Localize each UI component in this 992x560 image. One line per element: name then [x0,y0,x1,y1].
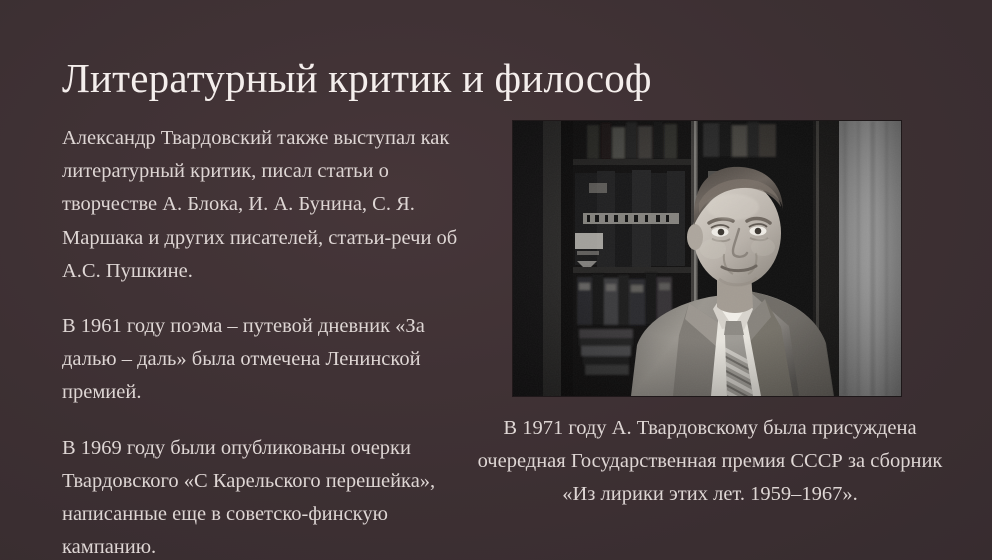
body-paragraph: Александр Твардовский также выступал как… [62,122,462,288]
page-title: Литературный критик и философ [62,53,942,104]
photo-caption: В 1971 году А. Твардовскому была присужд… [477,412,943,512]
body-paragraph: В 1961 году поэма – путевой дневник «За … [62,310,462,410]
body-text-column: Александр Твардовский также выступал как… [62,122,462,560]
portrait-photo [513,121,901,396]
presentation-slide: Литературный критик и философ Александр … [0,0,992,560]
body-paragraph: В 1969 году были опубликованы очерки Тва… [62,432,462,560]
